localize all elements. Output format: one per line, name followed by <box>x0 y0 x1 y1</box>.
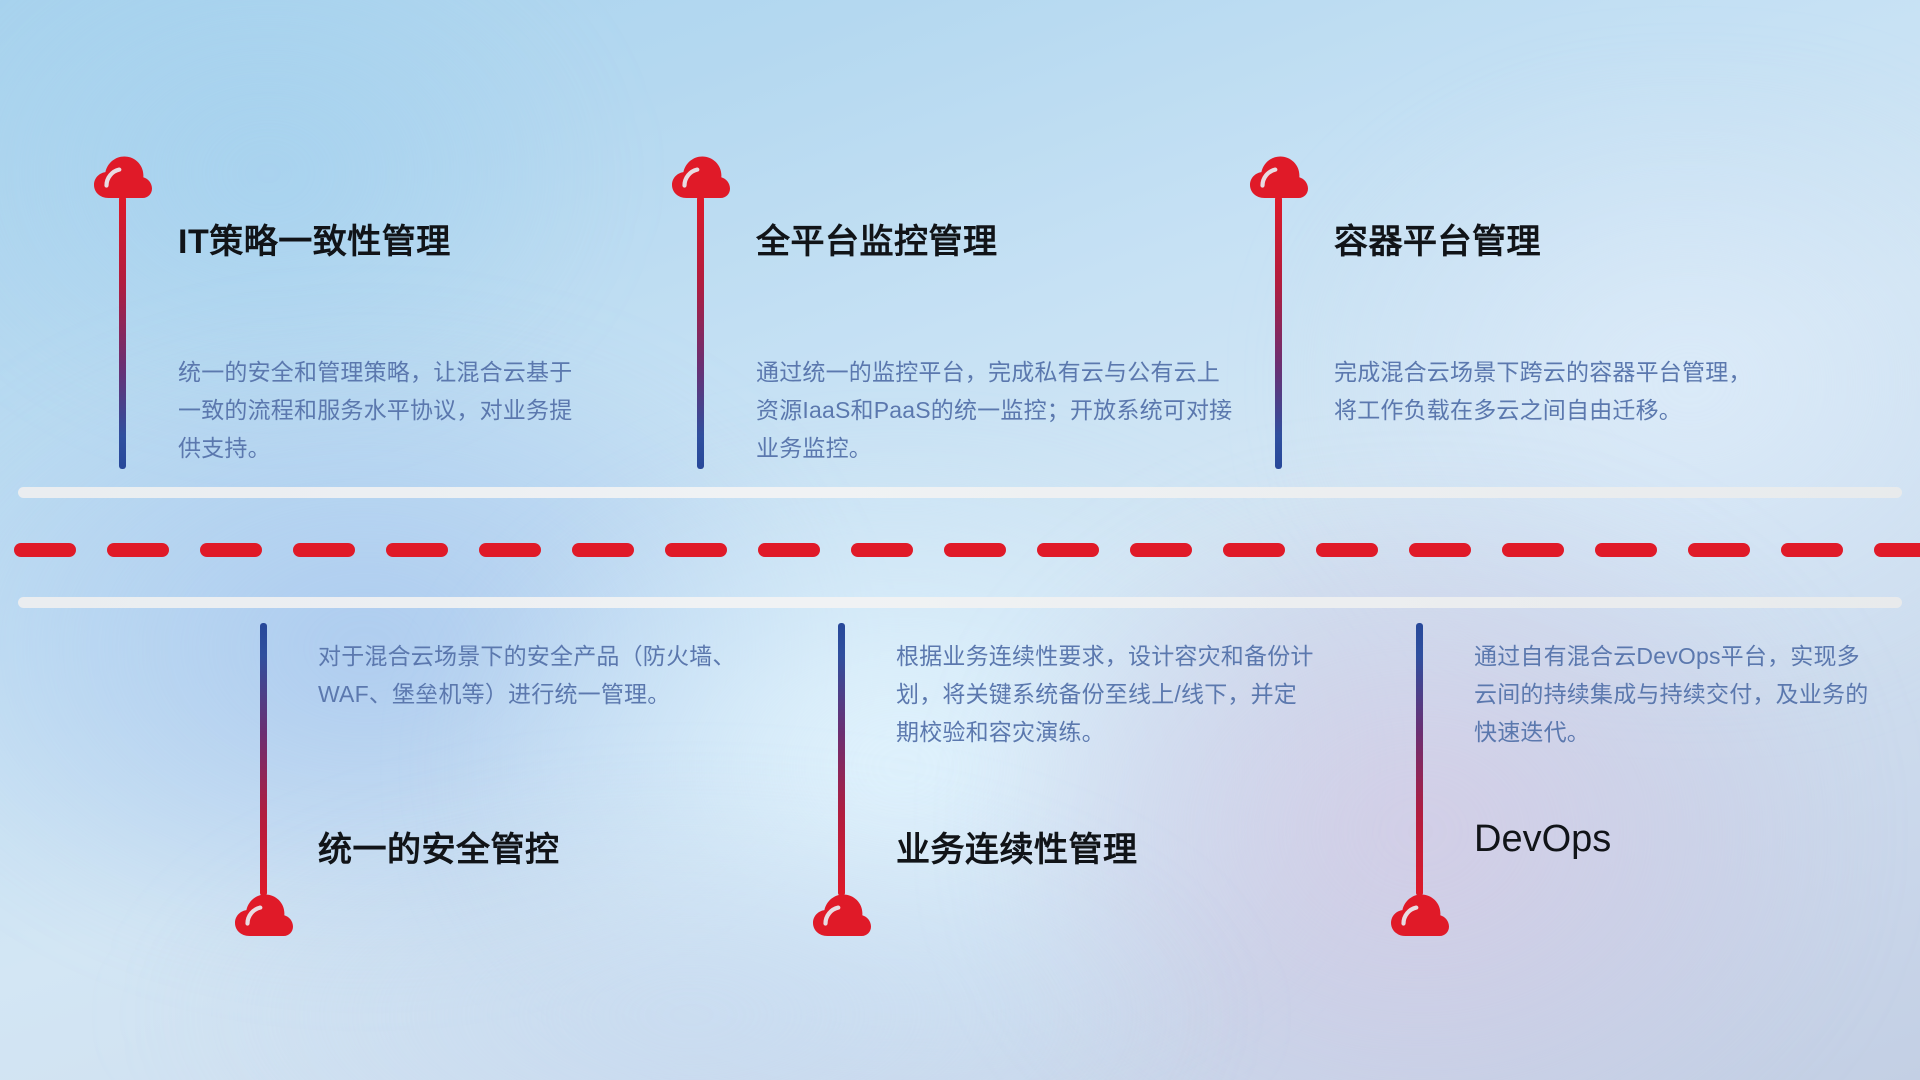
feature-heading: 全平台监控管理 <box>756 214 998 263</box>
feature-heading: IT策略一致性管理 <box>178 214 451 263</box>
divider-dash-segment <box>200 543 262 557</box>
connector-line <box>838 623 845 896</box>
divider-rule-top <box>18 487 1902 498</box>
cloud-icon <box>93 155 153 199</box>
feature-description: 对于混合云场景下的安全产品（防火墙、WAF、堡垒机等）进行统一管理。 <box>318 637 738 713</box>
feature-heading: DevOps <box>1474 818 1611 861</box>
divider-dash-segment <box>758 543 820 557</box>
feature-heading: 业务连续性管理 <box>896 822 1138 871</box>
divider-rule-bottom <box>18 597 1902 608</box>
feature-description: 根据业务连续性要求，设计容灾和备份计划，将关键系统备份至线上/线下，并定期校验和… <box>896 637 1316 751</box>
cloud-icon <box>671 155 731 199</box>
divider-dash-segment <box>1037 543 1099 557</box>
divider-dash-segment <box>1223 543 1285 557</box>
divider-dash-segment <box>1781 543 1843 557</box>
divider-dash-segment <box>944 543 1006 557</box>
cloud-icon <box>1249 155 1309 199</box>
divider-dash-segment <box>1130 543 1192 557</box>
connector-line <box>697 196 704 469</box>
divider-dash-segment <box>479 543 541 557</box>
divider-dash-segment <box>1316 543 1378 557</box>
divider-dash-segment <box>1595 543 1657 557</box>
divider-dash-segment <box>1688 543 1750 557</box>
divider-dash-segment <box>851 543 913 557</box>
divider-dash-segment <box>386 543 448 557</box>
feature-heading: 容器平台管理 <box>1334 214 1541 263</box>
divider-dash-segment <box>14 543 76 557</box>
feature-description: 统一的安全和管理策略，让混合云基于一致的流程和服务水平协议，对业务提供支持。 <box>178 353 588 467</box>
feature-description: 通过统一的监控平台，完成私有云与公有云上资源IaaS和PaaS的统一监控；开放系… <box>756 353 1236 467</box>
divider-dash-segment <box>572 543 634 557</box>
divider-dash-segment <box>665 543 727 557</box>
connector-line <box>1416 623 1423 896</box>
feature-description: 完成混合云场景下跨云的容器平台管理，将工作负载在多云之间自由迁移。 <box>1334 353 1774 429</box>
divider-dashed-line <box>0 543 1920 557</box>
divider-dash-segment <box>1874 543 1920 557</box>
cloud-icon <box>1390 893 1450 937</box>
cloud-icon <box>234 893 294 937</box>
feature-description: 通过自有混合云DevOps平台，实现多云间的持续集成与持续交付，及业务的快速迭代… <box>1474 637 1874 751</box>
divider-dash-segment <box>293 543 355 557</box>
divider-dash-segment <box>1502 543 1564 557</box>
feature-heading: 统一的安全管控 <box>318 822 560 871</box>
divider-dash-segment <box>1409 543 1471 557</box>
connector-line <box>119 196 126 469</box>
cloud-icon <box>812 893 872 937</box>
divider-dash-segment <box>107 543 169 557</box>
connector-line <box>260 623 267 896</box>
connector-line <box>1275 196 1282 469</box>
